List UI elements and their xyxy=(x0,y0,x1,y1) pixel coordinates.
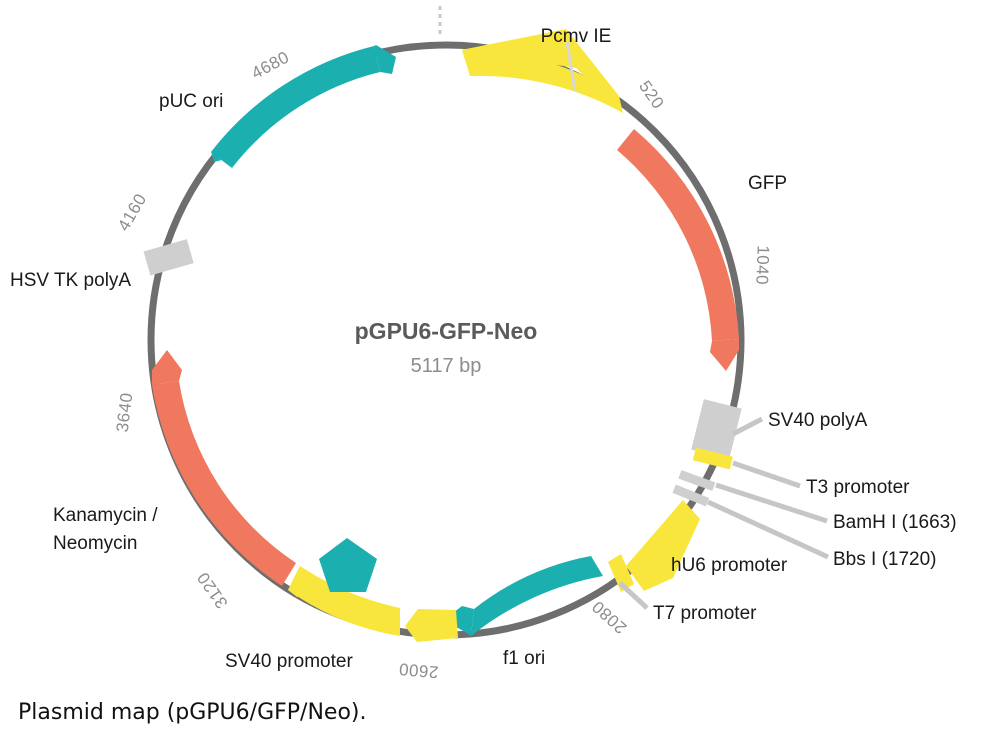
feature-hsv-tk-polya-box[interactable] xyxy=(144,239,194,275)
tick-label-1040-text: 1040 xyxy=(752,245,772,285)
tick-label-4160-text: 4160 xyxy=(114,190,150,234)
tick-label-3640-text: 3640 xyxy=(113,391,137,433)
tick-label-3120-text: 3120 xyxy=(193,568,231,612)
plasmid-size: 5117 bp xyxy=(411,355,482,377)
label-kanamycin-neomycin-line1: Kanamycin / xyxy=(53,505,158,526)
plasmid-name: pGPU6-GFP-Neo xyxy=(355,318,538,344)
tick-label-2600-text: 2600 xyxy=(398,659,439,681)
figure-caption: Plasmid map (pGPU6/GFP/Neo). xyxy=(18,700,366,725)
label-pcmv-ie: Pcmv IE xyxy=(541,26,612,47)
tick-label-2080-text: 2080 xyxy=(588,597,630,638)
feature-hu6-promoter[interactable] xyxy=(626,500,700,591)
label-bamhi: BamH I (1663) xyxy=(833,512,957,533)
label-gfp: GFP xyxy=(748,173,787,194)
tick-label-3120: 3120 xyxy=(193,568,231,612)
tick-label-3640: 3640 xyxy=(113,391,137,433)
feature-puc-ori[interactable] xyxy=(211,45,396,168)
label-hsv-tk-polya: HSV TK polyA xyxy=(10,270,131,291)
feature-hu6-promoter-body xyxy=(626,500,700,591)
label-t7-promoter: T7 promoter xyxy=(653,603,757,624)
feature-gfp[interactable] xyxy=(617,129,739,371)
tick-label-4680: 4680 xyxy=(248,47,292,82)
leader-line-bbsi xyxy=(708,502,828,557)
label-sv40-promoter: SV40 promoter xyxy=(225,651,353,672)
feature-kanamycin-neomycin-arc xyxy=(152,381,296,586)
leader-line-t3-promoter xyxy=(733,463,800,486)
tick-label-520: 520 xyxy=(635,77,668,112)
label-bbsi: Bbs I (1720) xyxy=(833,549,937,570)
tick-label-2600: 2600 xyxy=(398,659,439,681)
label-hu6-promoter: hU6 promoter xyxy=(671,555,788,576)
label-t3-promoter: T3 promoter xyxy=(806,477,910,498)
tick-label-2080: 2080 xyxy=(588,597,630,638)
tick-label-520-text: 520 xyxy=(635,77,668,112)
label-kanamycin-neomycin-line2: Neomycin xyxy=(53,533,137,554)
feature-gfp-arrowhead xyxy=(710,339,739,371)
tick-label-4680-text: 4680 xyxy=(248,47,292,82)
label-puc-ori: pUC ori xyxy=(159,91,223,112)
label-f1-ori: f1 ori xyxy=(503,648,545,669)
plasmid-map-canvas: pGPU6-GFP-Neo 5117 bp Pcmv IE GFP SV40 p… xyxy=(0,0,982,744)
feature-puc-ori-arc xyxy=(211,46,380,168)
plasmid-map-figure: pGPU6-GFP-Neo 5117 bp Pcmv IE GFP SV40 p… xyxy=(0,0,982,744)
tick-label-4160: 4160 xyxy=(114,190,150,234)
feature-kanamycin-neomycin-arrowhead xyxy=(152,350,182,385)
label-sv40-polya: SV40 polyA xyxy=(768,410,868,431)
tick-label-1040: 1040 xyxy=(752,245,772,285)
inner-pentagon-marker[interactable] xyxy=(319,538,377,592)
feature-kanamycin-neomycin[interactable] xyxy=(152,350,296,586)
feature-unlabeled-small-arrow[interactable] xyxy=(405,609,458,642)
